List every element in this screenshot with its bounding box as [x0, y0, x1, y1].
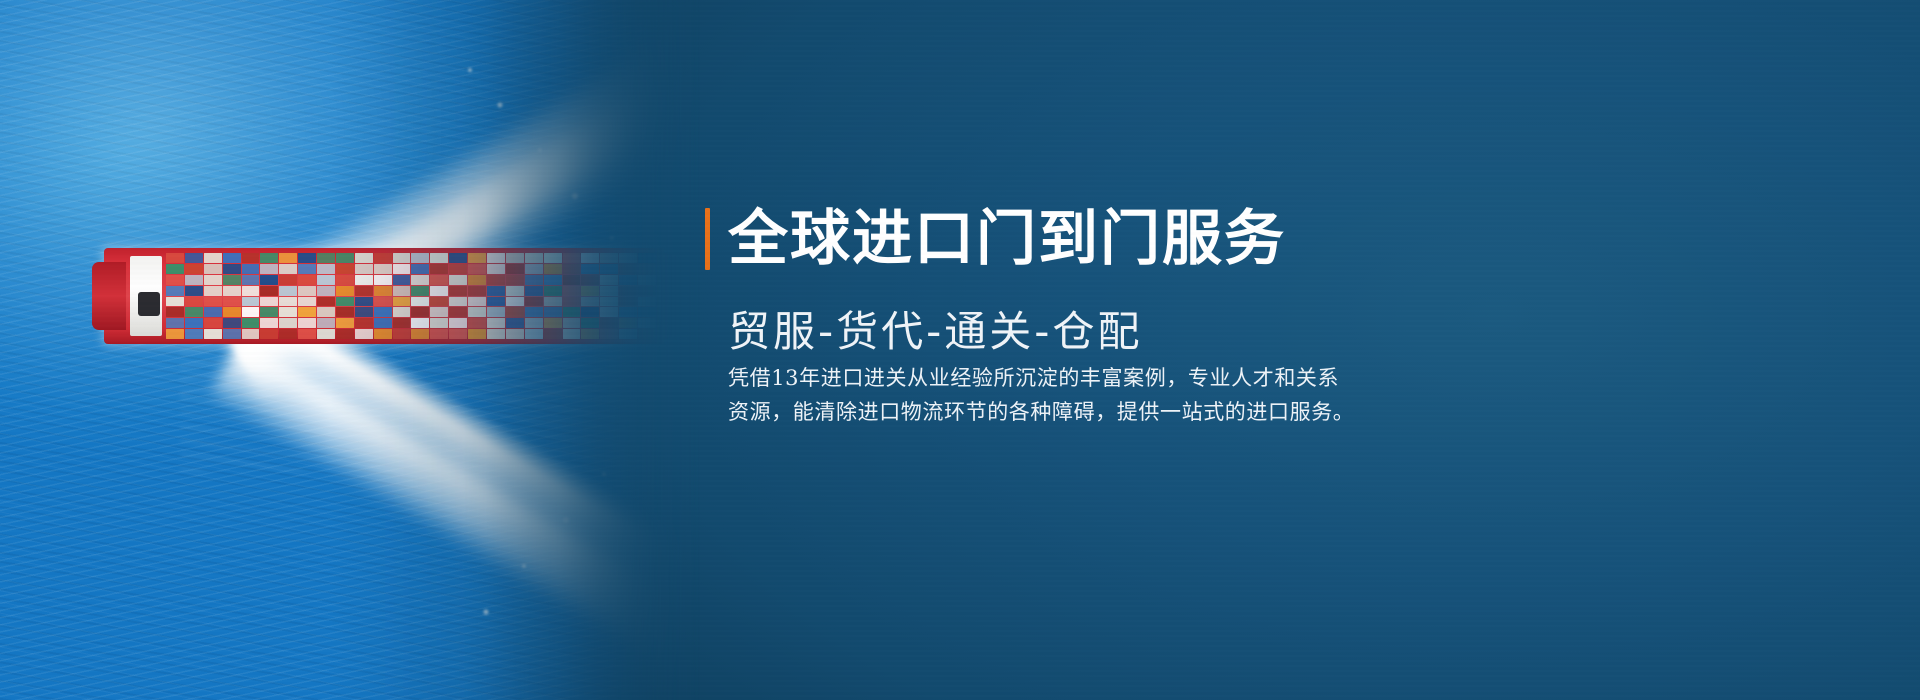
cargo-container [298, 275, 316, 285]
cargo-container [279, 264, 297, 274]
cargo-container [204, 275, 222, 285]
cargo-container [279, 286, 297, 296]
cargo-container [166, 297, 184, 307]
cargo-container [185, 318, 203, 328]
cargo-container [260, 297, 278, 307]
cargo-container [204, 318, 222, 328]
cargo-container [204, 307, 222, 317]
aerial-container-ship-photo [0, 0, 700, 700]
ship-bridge [130, 256, 162, 336]
cargo-container [260, 318, 278, 328]
cargo-container [223, 286, 241, 296]
cargo-container [279, 253, 297, 263]
cargo-container [185, 307, 203, 317]
cargo-container [298, 264, 316, 274]
cargo-container [185, 297, 203, 307]
cargo-container [298, 253, 316, 263]
cargo-container [242, 253, 260, 263]
cargo-container [166, 307, 184, 317]
cargo-container [298, 286, 316, 296]
cargo-container [298, 297, 316, 307]
cargo-container [204, 329, 222, 339]
cargo-container [223, 329, 241, 339]
cargo-container [242, 297, 260, 307]
cargo-container [279, 329, 297, 339]
cargo-container [166, 264, 184, 274]
cargo-container [166, 275, 184, 285]
cargo-container [279, 307, 297, 317]
cargo-container [242, 329, 260, 339]
cargo-container [223, 253, 241, 263]
ship-funnel [138, 292, 160, 316]
hero-description-line-1: 凭借13年进口进关从业经验所沉淀的丰富案例，专业人才和关系 [728, 361, 1448, 395]
cargo-container [223, 318, 241, 328]
cargo-container [185, 275, 203, 285]
cargo-container [260, 307, 278, 317]
hero-banner: 全球进口门到门服务 贸服-货代-通关-仓配 凭借13年进口进关从业经验所沉淀的丰… [0, 0, 1920, 700]
cargo-container [260, 253, 278, 263]
page-title: 全球进口门到门服务 [728, 208, 1286, 270]
ship-stern [92, 262, 126, 330]
cargo-container [223, 264, 241, 274]
cargo-container [279, 275, 297, 285]
photo-edge-fade [330, 0, 700, 700]
hero-description: 凭借13年进口进关从业经验所沉淀的丰富案例，专业人才和关系 资源，能清除进口物流… [728, 361, 1448, 429]
cargo-container [204, 286, 222, 296]
cargo-container [185, 264, 203, 274]
cargo-container [298, 307, 316, 317]
hero-text-block: 全球进口门到门服务 贸服-货代-通关-仓配 凭借13年进口进关从业经验所沉淀的丰… [700, 0, 1920, 700]
cargo-container [166, 318, 184, 328]
cargo-container [204, 297, 222, 307]
cargo-container [242, 264, 260, 274]
cargo-container [166, 329, 184, 339]
cargo-container [242, 318, 260, 328]
cargo-container [260, 275, 278, 285]
hero-subtitle: 贸服-货代-通关-仓配 [728, 307, 1142, 357]
cargo-container [298, 318, 316, 328]
cargo-container [260, 264, 278, 274]
cargo-container [242, 275, 260, 285]
cargo-container [204, 264, 222, 274]
cargo-container [223, 275, 241, 285]
cargo-container [242, 307, 260, 317]
hero-title-row: 全球进口门到门服务 [705, 168, 1286, 310]
cargo-container [279, 318, 297, 328]
cargo-container [260, 329, 278, 339]
cargo-container [185, 286, 203, 296]
cargo-container [260, 286, 278, 296]
cargo-container [166, 286, 184, 296]
cargo-container [185, 253, 203, 263]
cargo-container [166, 253, 184, 263]
cargo-container [204, 253, 222, 263]
orange-accent-bar [705, 208, 710, 270]
cargo-container [242, 286, 260, 296]
cargo-container [223, 307, 241, 317]
cargo-container [185, 329, 203, 339]
cargo-container [298, 329, 316, 339]
cargo-container [223, 297, 241, 307]
hero-description-line-2: 资源，能清除进口物流环节的各种障碍，提供一站式的进口服务。 [728, 395, 1448, 429]
cargo-container [279, 297, 297, 307]
